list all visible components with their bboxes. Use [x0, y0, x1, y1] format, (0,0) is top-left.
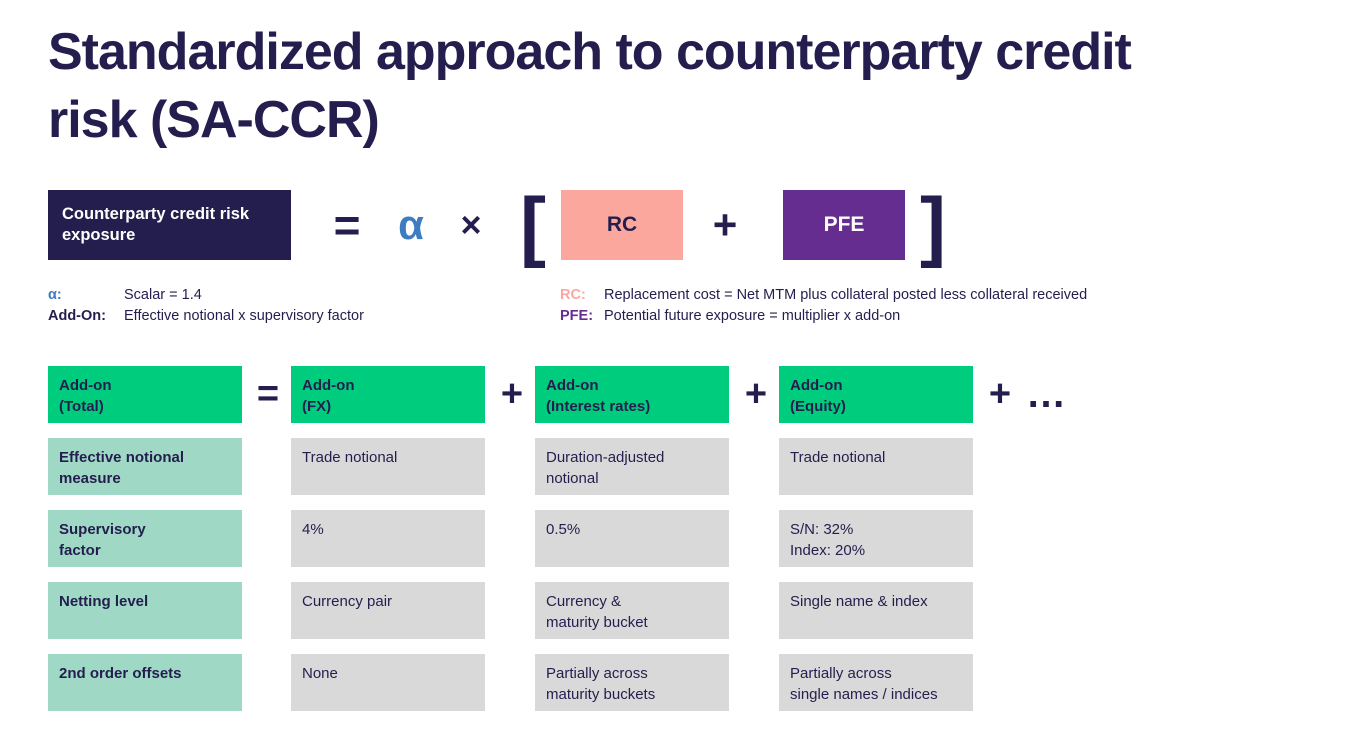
- counterparty-exposure-label: Counterparty credit risk exposure: [62, 204, 291, 246]
- header-cell-equity: Add-on (Equity): [779, 366, 973, 423]
- table-row: Effective notional measure Trade notiona…: [48, 438, 1148, 495]
- header-fx-line2: (FX): [302, 396, 474, 417]
- legend-item-rc: RC: Replacement cost = Net MTM plus coll…: [560, 285, 1087, 306]
- alpha-symbol: α: [388, 190, 434, 260]
- cell-line2: maturity buckets: [546, 684, 718, 705]
- bracket-open: [: [516, 190, 550, 260]
- cell-equity-netting-level: Single name & index: [779, 582, 973, 639]
- cell-line1: Trade notional: [790, 447, 962, 468]
- header-total-line1: Add-on: [59, 375, 231, 396]
- table-header-row: Add-on (Total) = Add-on (FX) + Add-on (I…: [48, 366, 1148, 423]
- header-total-line2: (Total): [59, 396, 231, 417]
- cell-equity-effective-notional: Trade notional: [779, 438, 973, 495]
- legend-value-pfe: Potential future exposure = multiplier x…: [604, 306, 1087, 327]
- cell-ir-supervisory-factor: 0.5%: [535, 510, 729, 567]
- legend-key-pfe: PFE:: [560, 306, 604, 327]
- header-equals-operator: =: [244, 366, 292, 423]
- cell-fx-supervisory-factor: 4%: [291, 510, 485, 567]
- cell-line2: single names / indices: [790, 684, 962, 705]
- pfe-label: PFE: [824, 213, 865, 237]
- table-row: Netting level Currency pair Currency & m…: [48, 582, 1148, 639]
- header-cell-total: Add-on (Total): [48, 366, 242, 423]
- formula-row: Counterparty credit risk exposure = α × …: [48, 190, 1048, 262]
- cell-line1: Partially across: [546, 663, 718, 684]
- row-label-supervisory-factor: Supervisory factor: [48, 510, 242, 567]
- header-ir-line2: (Interest rates): [546, 396, 718, 417]
- cell-line1: S/N: 32%: [790, 519, 962, 540]
- row-label-effective-notional-measure: Effective notional measure: [48, 438, 242, 495]
- multiply-operator: ×: [448, 190, 494, 260]
- counterparty-exposure-box: Counterparty credit risk exposure: [48, 190, 291, 260]
- row-label-netting-level: Netting level: [48, 582, 242, 639]
- header-plus-operator-1: +: [488, 366, 536, 423]
- cell-line1: 4%: [302, 519, 474, 540]
- header-plus-operator-3: +: [976, 366, 1024, 423]
- legend-value-addon: Effective notional x supervisory factor: [124, 306, 364, 327]
- cell-line2: maturity bucket: [546, 612, 718, 633]
- cell-line2: Index: 20%: [790, 540, 962, 561]
- header-fx-line1: Add-on: [302, 375, 474, 396]
- header-ellipsis: …: [1026, 366, 1068, 423]
- cell-ir-2nd-order-offsets: Partially across maturity buckets: [535, 654, 729, 711]
- legend-value-alpha: Scalar = 1.4: [124, 285, 364, 306]
- cell-fx-netting-level: Currency pair: [291, 582, 485, 639]
- cell-line1: Duration-adjusted: [546, 447, 718, 468]
- page-title: Standardized approach to counterparty cr…: [48, 18, 1198, 154]
- cell-fx-2nd-order-offsets: None: [291, 654, 485, 711]
- cell-line1: Partially across: [790, 663, 962, 684]
- cell-equity-supervisory-factor: S/N: 32% Index: 20%: [779, 510, 973, 567]
- row-label-line1: Effective notional: [59, 447, 231, 468]
- row-label-line2: factor: [59, 540, 231, 561]
- cell-line2: notional: [546, 468, 718, 489]
- header-plus-operator-2: +: [732, 366, 780, 423]
- bracket-close: ]: [916, 190, 950, 260]
- cell-line1: Single name & index: [790, 591, 962, 612]
- legend-key-alpha: α:: [48, 285, 124, 306]
- legend-left: α: Scalar = 1.4 Add-On: Effective notion…: [48, 285, 364, 327]
- header-cell-fx: Add-on (FX): [291, 366, 485, 423]
- row-label-line1: 2nd order offsets: [59, 663, 231, 684]
- cell-ir-netting-level: Currency & maturity bucket: [535, 582, 729, 639]
- row-label-line1: Netting level: [59, 591, 231, 612]
- rc-box: RC: [561, 190, 683, 260]
- row-label-line1: Supervisory: [59, 519, 231, 540]
- cell-line1: 0.5%: [546, 519, 718, 540]
- cell-line1: None: [302, 663, 474, 684]
- rc-label: RC: [607, 213, 637, 237]
- header-ir-line1: Add-on: [546, 375, 718, 396]
- header-equity-line1: Add-on: [790, 375, 962, 396]
- legend-right: RC: Replacement cost = Net MTM plus coll…: [560, 285, 1087, 327]
- cell-fx-effective-notional: Trade notional: [291, 438, 485, 495]
- cell-line1: Trade notional: [302, 447, 474, 468]
- table-row: 2nd order offsets None Partially across …: [48, 654, 1148, 711]
- header-cell-interest-rates: Add-on (Interest rates): [535, 366, 729, 423]
- pfe-box: PFE: [783, 190, 905, 260]
- row-label-2nd-order-offsets: 2nd order offsets: [48, 654, 242, 711]
- addon-breakdown-table: Add-on (Total) = Add-on (FX) + Add-on (I…: [48, 366, 1148, 726]
- table-row: Supervisory factor 4% 0.5% S/N: 32% Inde…: [48, 510, 1148, 567]
- cell-equity-2nd-order-offsets: Partially across single names / indices: [779, 654, 973, 711]
- row-label-line2: measure: [59, 468, 231, 489]
- plus-operator-formula: +: [702, 190, 748, 260]
- legend-item-addon: Add-On: Effective notional x supervisory…: [48, 306, 364, 327]
- legend-item-pfe: PFE: Potential future exposure = multipl…: [560, 306, 1087, 327]
- cell-line1: Currency &: [546, 591, 718, 612]
- cell-ir-effective-notional: Duration-adjusted notional: [535, 438, 729, 495]
- legend-key-addon: Add-On:: [48, 306, 124, 327]
- cell-line1: Currency pair: [302, 591, 474, 612]
- header-equity-line2: (Equity): [790, 396, 962, 417]
- equals-operator: =: [320, 190, 374, 260]
- legend-item-alpha: α: Scalar = 1.4: [48, 285, 364, 306]
- legend-value-rc: Replacement cost = Net MTM plus collater…: [604, 285, 1087, 306]
- legend-key-rc: RC:: [560, 285, 604, 306]
